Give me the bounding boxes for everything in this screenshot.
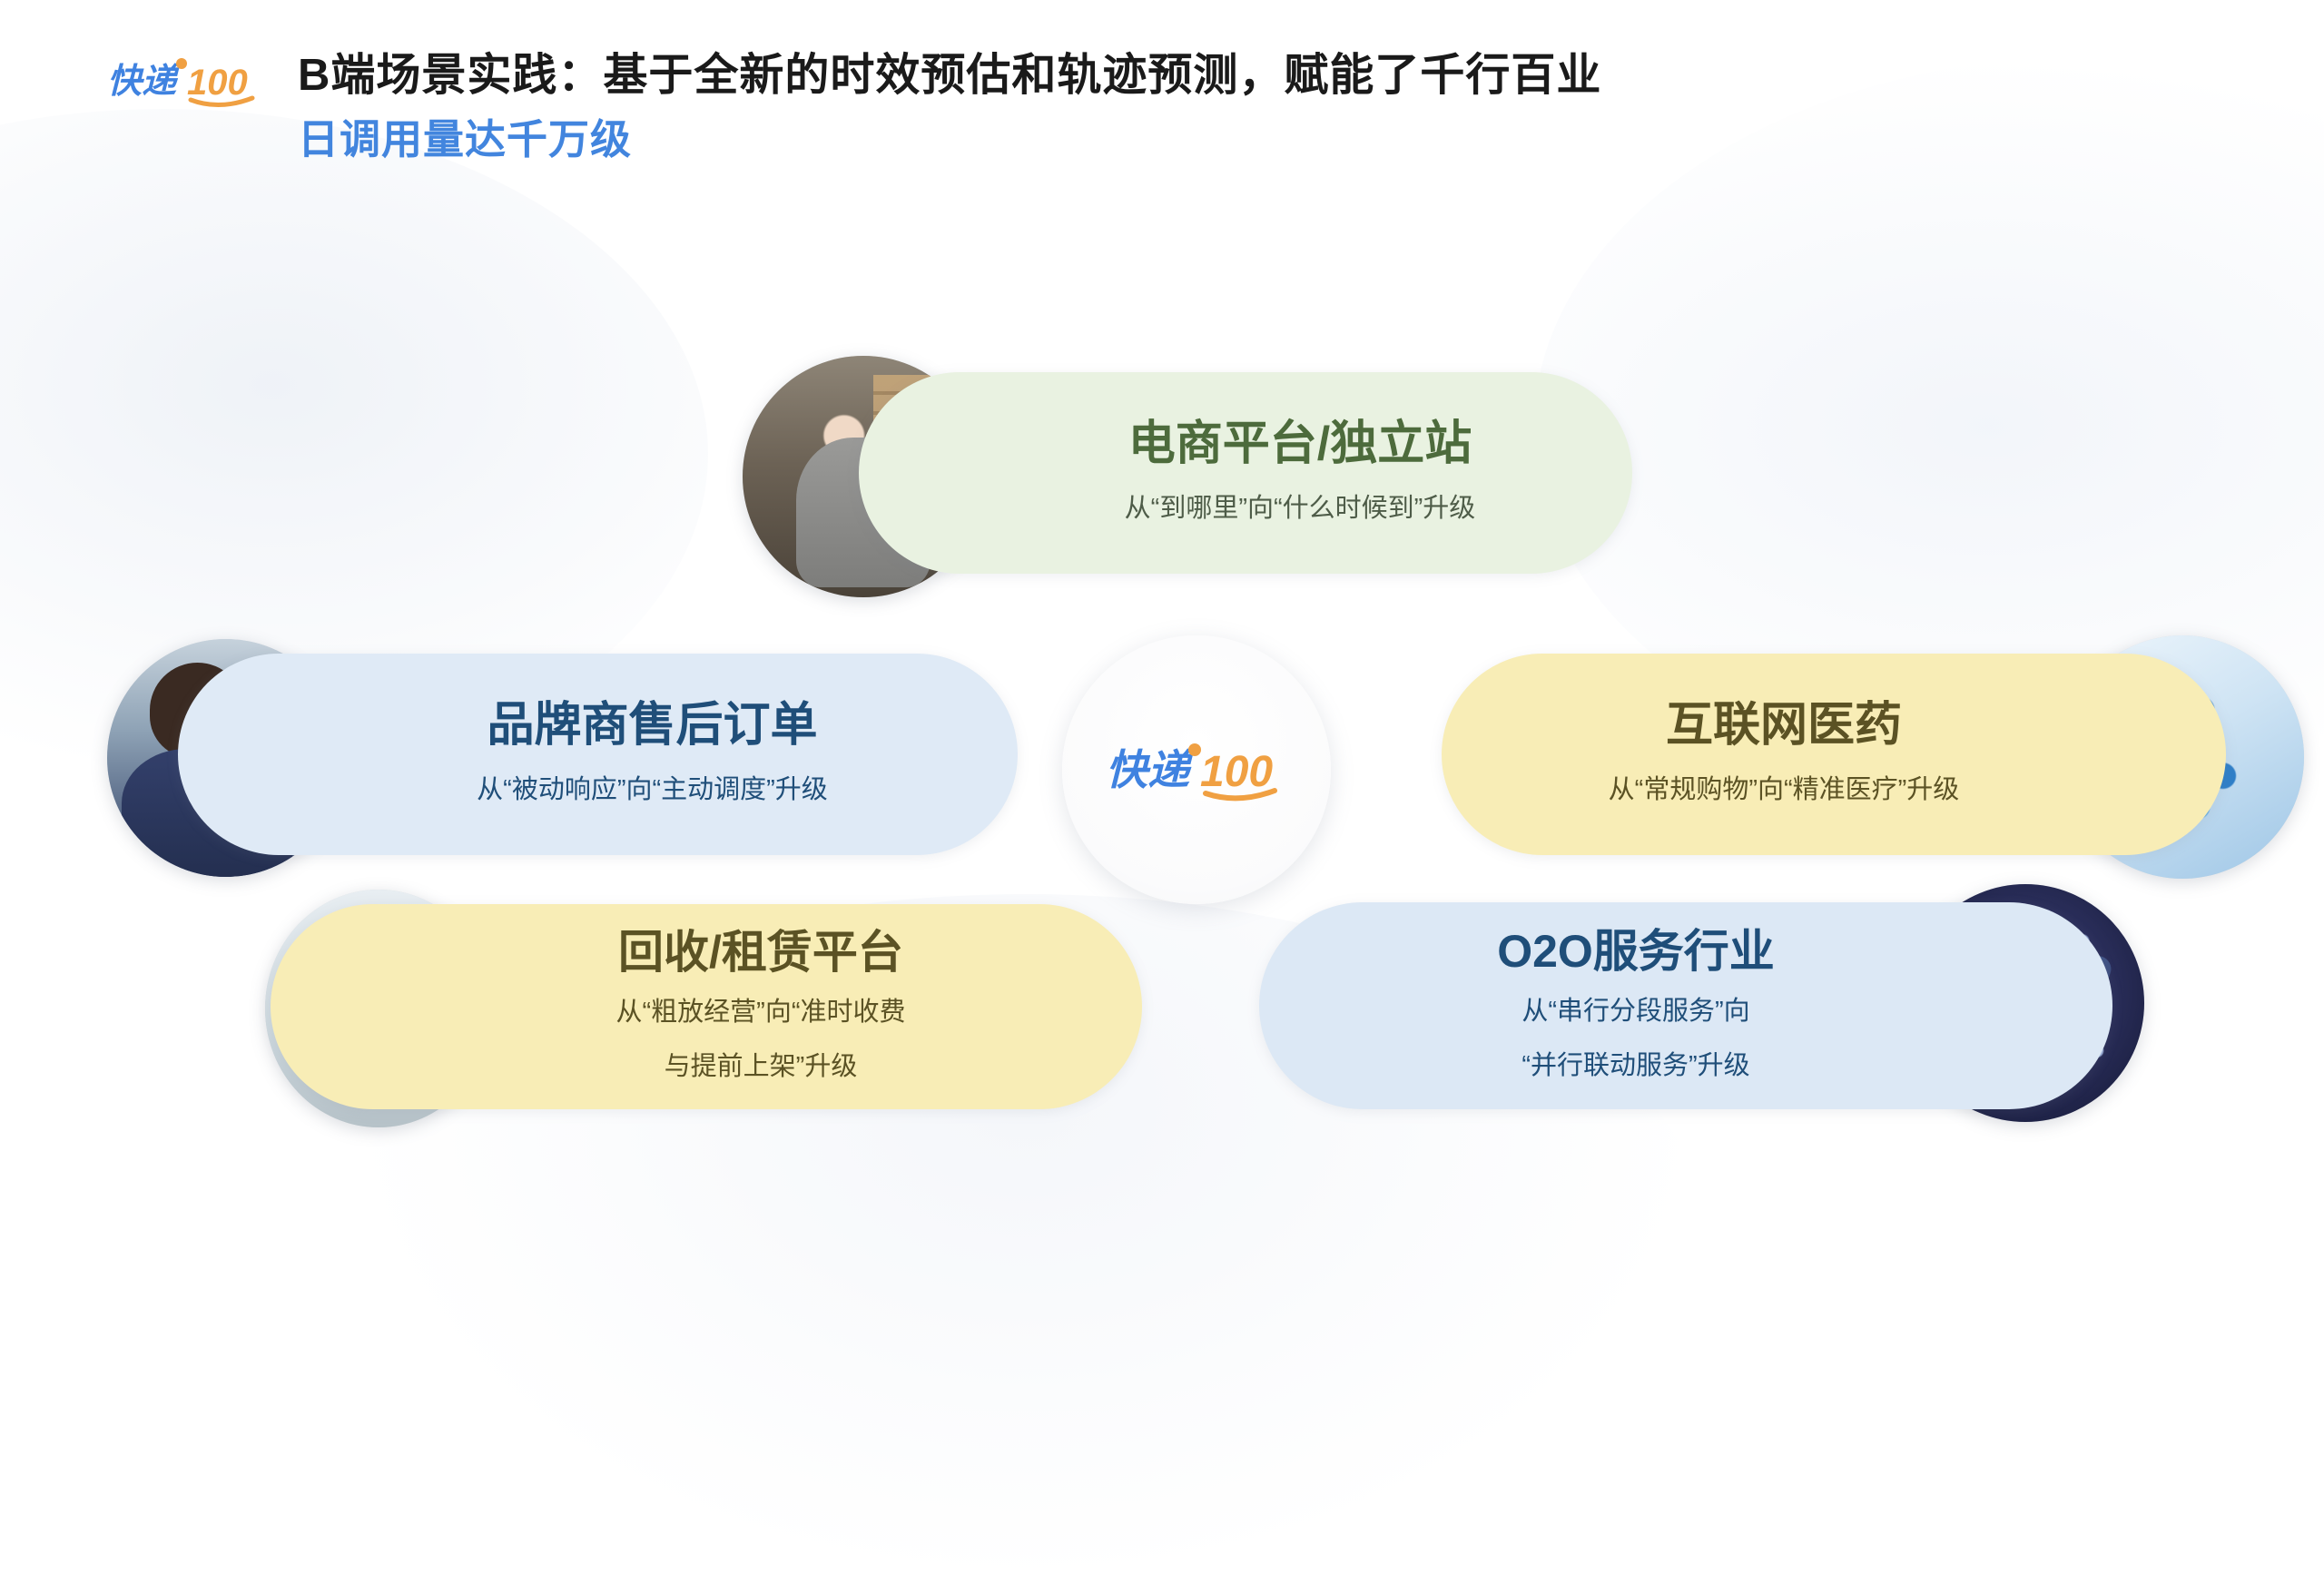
card-recycling-rental-title: 回收/租赁平台 [618,928,903,978]
card-brand-aftersales-content: 品牌商售后订单 从“被动响应”向“主动调度”升级 [477,700,828,809]
card-brand-aftersales-title: 品牌商售后订单 [487,700,817,752]
card-o2o-service-title: O2O服务行业 [1497,927,1775,977]
header-text-block: B端场景实践：基于全新的时效预估和轨迹预测，赋能了千行百业 日调用量达千万级 [298,47,1601,166]
card-o2o-service[interactable]: O2O服务行业 从“串行分段服务”向 “并行联动服务”升级 [1259,902,2112,1109]
card-ecommerce-platform-content: 电商平台/独立站 从“到哪里”向“什么时候到”升级 [1125,418,1476,527]
card-ecommerce-platform-subtitle: 从“到哪里”向“什么时候到”升级 [1125,490,1476,527]
card-ecommerce-platform[interactable]: 电商平台/独立站 从“到哪里”向“什么时候到”升级 [859,372,1632,574]
page-title: B端场景实践：基于全新的时效预估和轨迹预测，赋能了千行百业 [298,47,1601,104]
svg-text:快递: 快递 [107,63,180,101]
card-internet-pharmacy-title: 互联网医药 [1666,700,1902,752]
svg-text:100: 100 [1200,748,1273,796]
card-o2o-service-subtitle-line2: “并行联动服务”升级 [1521,1048,1749,1085]
card-brand-aftersales[interactable]: 品牌商售后订单 从“被动响应”向“主动调度”升级 [178,654,1018,855]
card-recycling-rental[interactable]: 回收/租赁平台 从“粗放经营”向“准时收费 与提前上架”升级 [271,904,1142,1109]
card-o2o-service-subtitle-line1: 从“串行分段服务”向 [1521,993,1749,1030]
card-recycling-rental-content: 回收/租赁平台 从“粗放经营”向“准时收费 与提前上架”升级 [616,928,906,1085]
kuaidi100-logo: 快递 100 [107,53,261,109]
card-recycling-rental-subtitle-line1: 从“粗放经营”向“准时收费 [616,994,906,1031]
card-o2o-service-content: O2O服务行业 从“串行分段服务”向 “并行联动服务”升级 [1497,927,1775,1084]
card-brand-aftersales-subtitle: 从“被动响应”向“主动调度”升级 [477,772,828,809]
svg-text:快递: 快递 [1106,746,1194,793]
kuaidi100-center-logo: 快递 100 [1062,635,1331,904]
card-internet-pharmacy-content: 互联网医药 从“常规购物”向“精准医疗”升级 [1609,700,1960,809]
page-subtitle: 日调用量达千万级 [298,113,1601,167]
card-internet-pharmacy[interactable]: 互联网医药 从“常规购物”向“精准医疗”升级 [1442,654,2226,855]
svg-text:100: 100 [187,63,248,103]
card-internet-pharmacy-subtitle: 从“常规购物”向“精准医疗”升级 [1609,772,1960,809]
slide-header: 快递 100 B端场景实践：基于全新的时效预估和轨迹预测，赋能了千行百业 日调用… [107,47,1601,166]
card-recycling-rental-subtitle-line2: 与提前上架”升级 [665,1048,858,1086]
card-ecommerce-platform-title: 电商平台/独立站 [1128,418,1472,470]
